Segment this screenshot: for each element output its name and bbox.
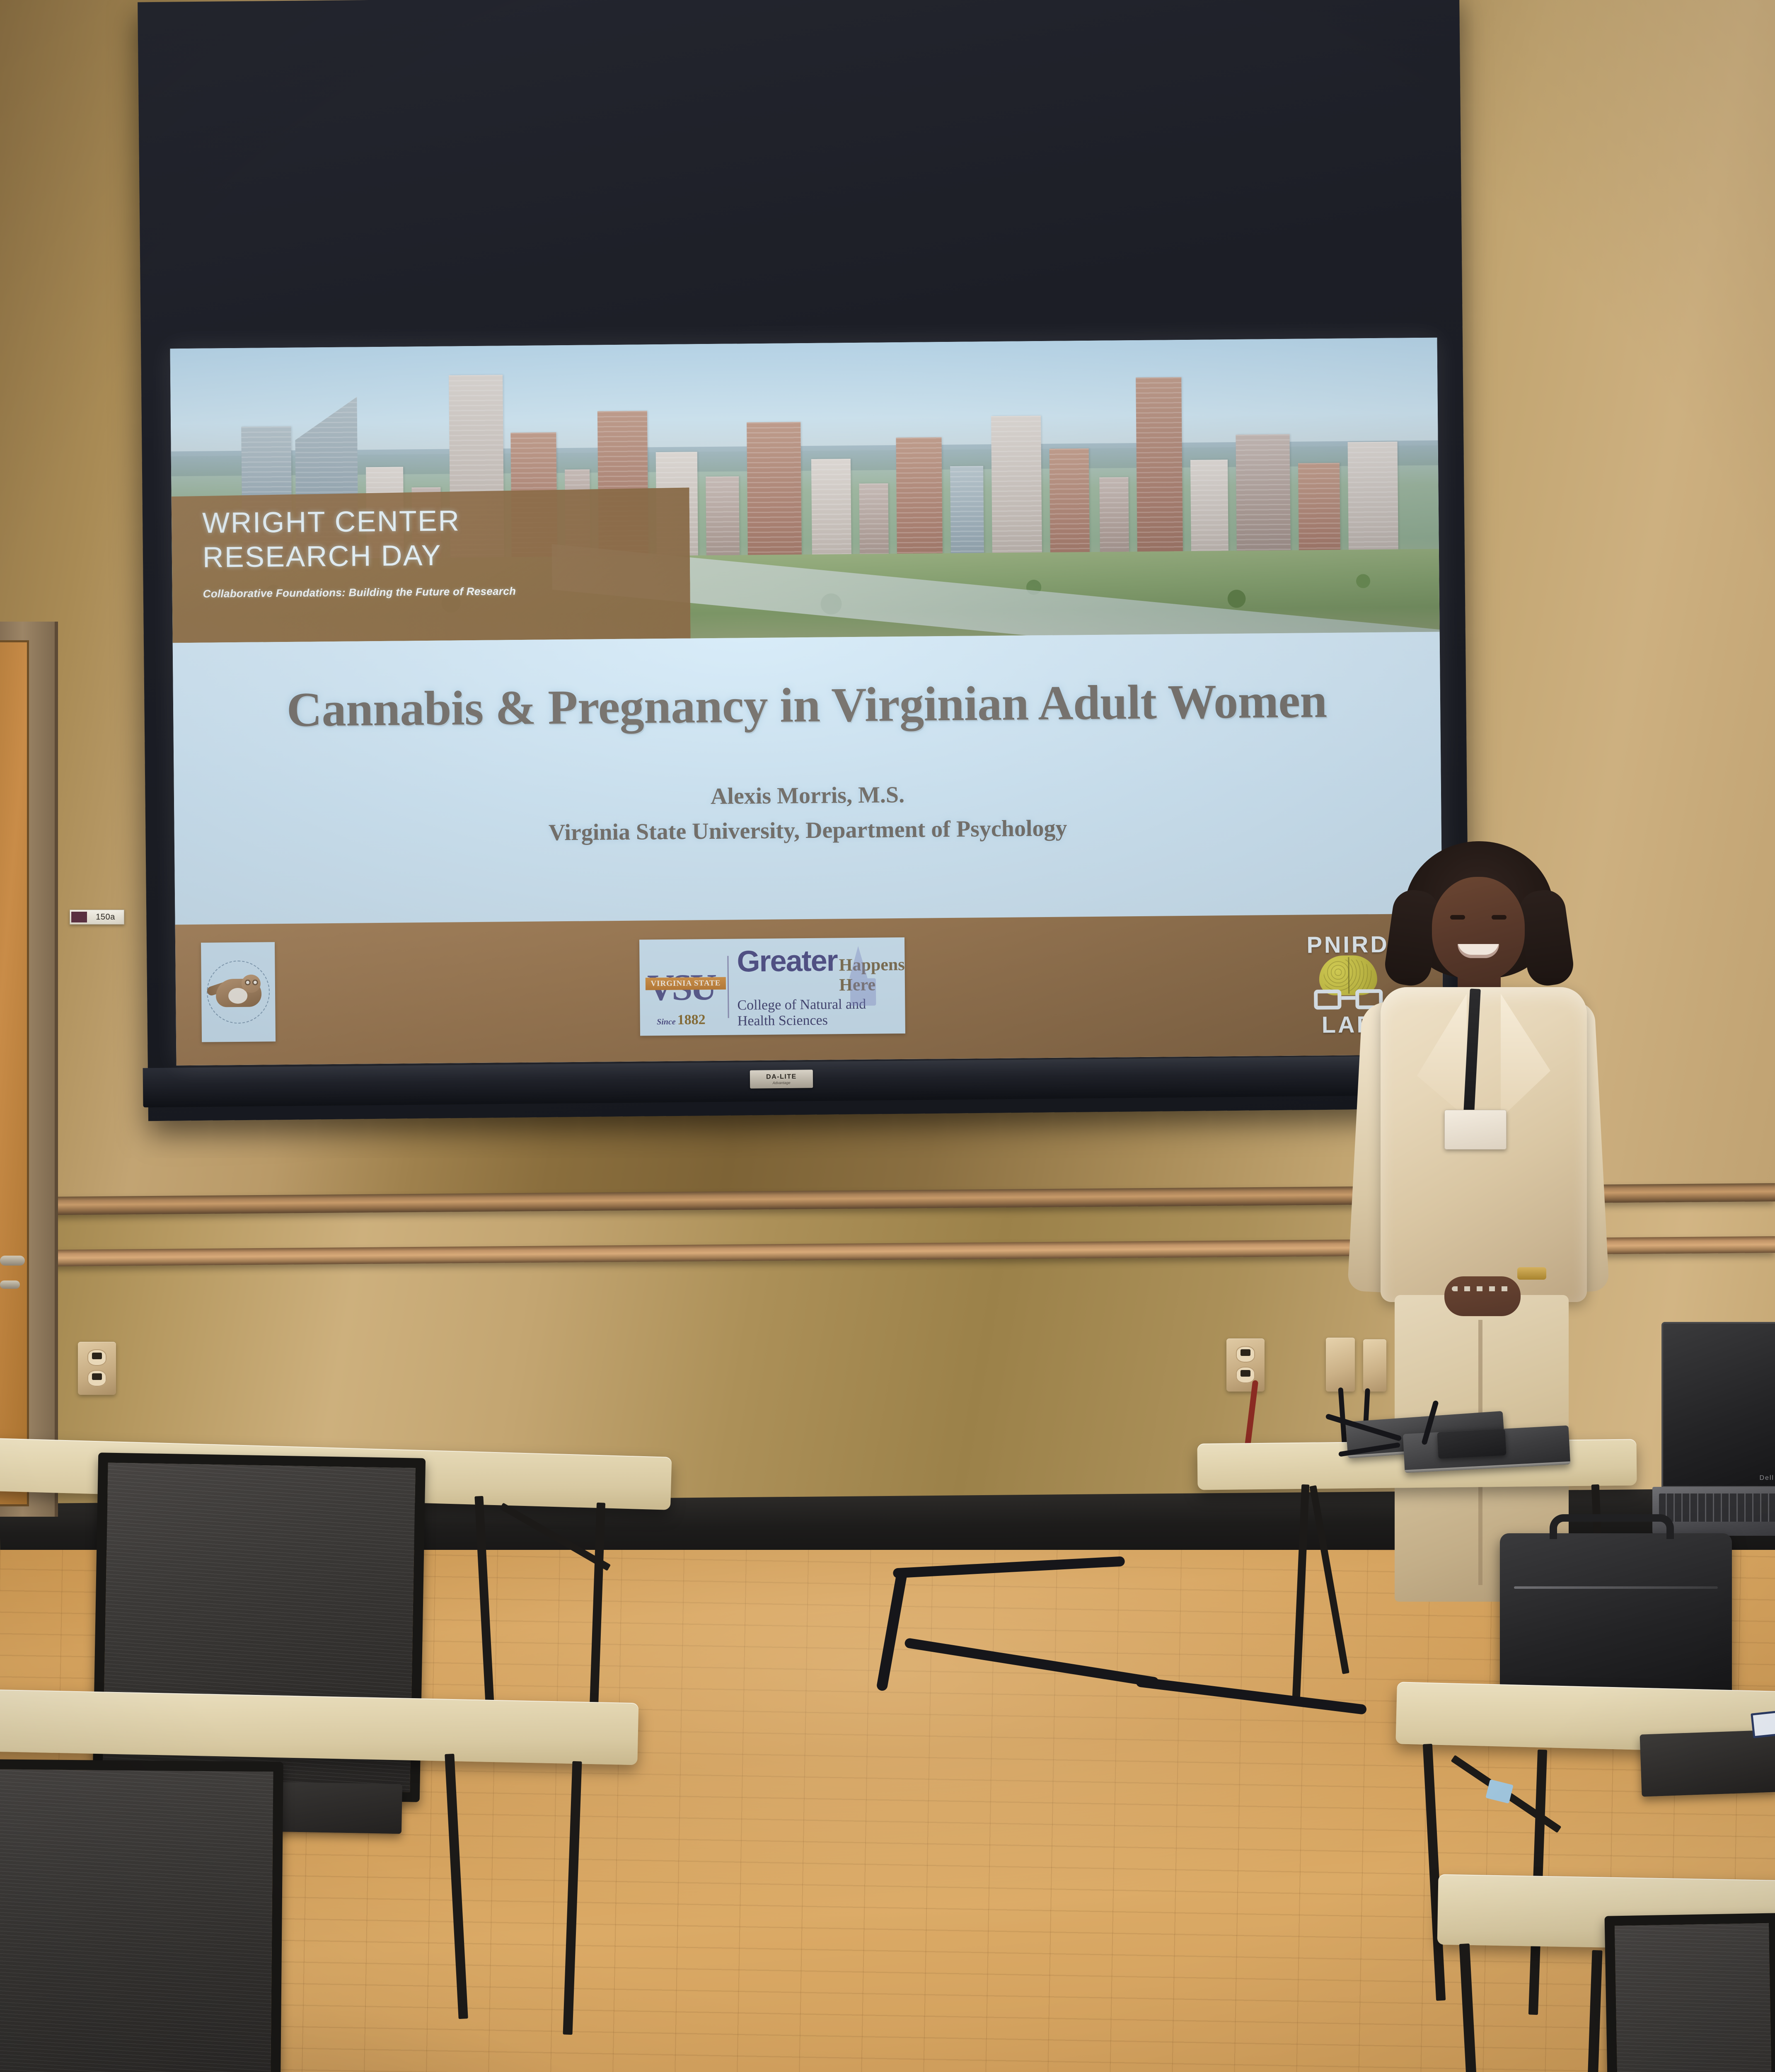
slide-body: Cannabis & Pregnancy in Virginian Adult … (173, 632, 1442, 929)
power-adapter-brick (1437, 1429, 1506, 1459)
open-laptop[interactable]: Dell (1661, 1322, 1775, 1537)
laptop-keyboard[interactable] (1659, 1493, 1775, 1522)
vsu-since: Since1882 (640, 1012, 723, 1029)
slide-author: Alexis Morris, M.S. (174, 777, 1441, 815)
chair-backrest[interactable] (1605, 1913, 1775, 2072)
laptop-brand-label: Dell (1759, 1474, 1774, 1482)
chair-right[interactable] (1605, 1913, 1775, 2072)
slide-affiliation: Virginia State University, Department of… (174, 812, 1441, 850)
cotter-otter-logo (201, 942, 276, 1042)
presenter-face (1432, 877, 1525, 981)
door-handle[interactable] (0, 1256, 25, 1266)
glasses-bridge (1341, 996, 1355, 1000)
otter-head (242, 975, 261, 993)
college-name: College of Natural and Health Sciences (737, 996, 905, 1029)
wall-outlet (78, 1342, 116, 1395)
da-lite-sub: Advantage (773, 1081, 791, 1085)
wristwatch (1517, 1267, 1546, 1280)
vsu-since-year: 1882 (677, 1012, 706, 1028)
outlet-slot-bottom (1241, 1370, 1250, 1377)
slide-title: Cannabis & Pregnancy in Virginian Adult … (173, 672, 1441, 739)
da-lite-brand-badge: DA-LITE Advantage (750, 1070, 813, 1088)
greater-word: Greater (737, 944, 837, 978)
vsu-band: VIRGINIA STATE (646, 977, 726, 990)
room-sign-swatch (71, 912, 87, 922)
presenter-eye-right (1492, 915, 1507, 920)
slide-hero-image: WRIGHT CENTER RESEARCH DAY Collaborative… (170, 338, 1440, 643)
slide-logo-bar: VSU VIRGINIA STATE Since1882 Greater Hap… (175, 914, 1444, 1066)
bag-zipper (1514, 1586, 1718, 1589)
laptop-bag (1500, 1533, 1732, 1707)
presenter-eye-left (1450, 915, 1465, 920)
campus-spire-icon (849, 946, 868, 978)
vsu-since-prefix: Since (657, 1017, 676, 1026)
door-latch[interactable] (0, 1280, 20, 1289)
laptop-screen: Dell (1661, 1322, 1775, 1488)
outlet-slot-top (92, 1353, 102, 1359)
chair-backrest[interactable] (0, 1759, 283, 2072)
name-badge (1444, 1110, 1507, 1150)
presenter-hands (1444, 1276, 1521, 1316)
event-line-1: WRIGHT CENTER (202, 501, 690, 540)
event-tagline: Collaborative Foundations: Building the … (203, 583, 690, 600)
bag-handle[interactable] (1550, 1514, 1674, 1539)
slide-event-block: WRIGHT CENTER RESEARCH DAY Collaborative… (172, 487, 691, 643)
room-number-sign: 150a (70, 910, 124, 925)
greater-happens-line: Greater Happens Here (737, 943, 905, 996)
outlet-slot-bottom (92, 1373, 102, 1380)
vsu-divider (728, 956, 729, 1018)
vsu-mark-group: VSU VIRGINIA STATE Since1882 (639, 939, 722, 1036)
da-lite-label: DA-LITE (766, 1073, 797, 1081)
av-wall-plate (1326, 1338, 1355, 1392)
vsu-band-label: VIRGINIA STATE (651, 979, 721, 988)
presenter-smile (1458, 944, 1499, 958)
door[interactable] (0, 640, 29, 1506)
otter-icon (206, 960, 270, 1024)
greater-happens-here-group: Greater Happens Here College of Natural … (734, 943, 905, 1029)
projected-slide: WRIGHT CENTER RESEARCH DAY Collaborative… (170, 338, 1444, 1066)
chair-front-left[interactable] (0, 1759, 283, 2072)
outlet-slot-top (1241, 1349, 1250, 1356)
wall-outlet (1226, 1339, 1265, 1392)
room-number-label: 150a (87, 913, 124, 922)
vsu-greater-happens-here-logo: VSU VIRGINIA STATE Since1882 Greater Hap… (639, 937, 905, 1036)
chair-seat[interactable] (1640, 1730, 1775, 1796)
classroom-scene: 150a DA-LITE Advantage (0, 0, 1775, 2072)
glasses-lens-left (1314, 990, 1341, 1010)
event-line-2: RESEARCH DAY (203, 536, 690, 575)
